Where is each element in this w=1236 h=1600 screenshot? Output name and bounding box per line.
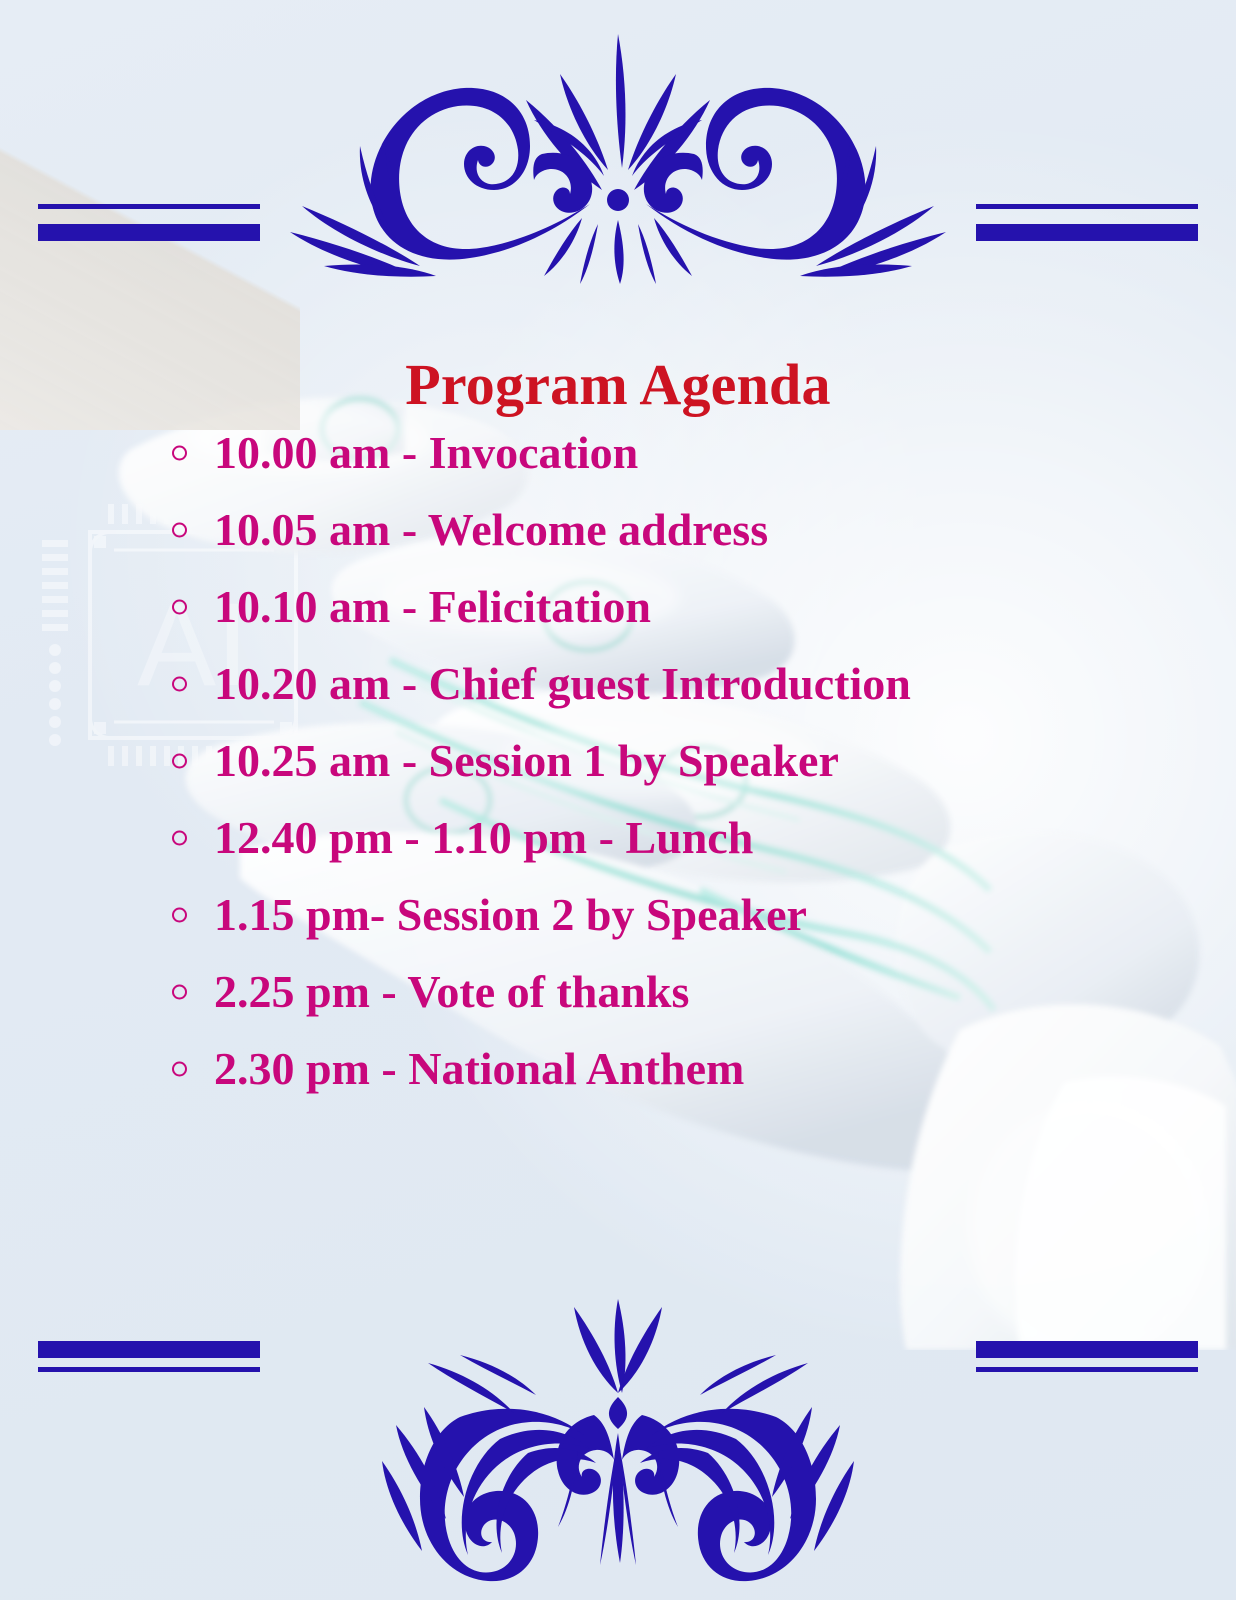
hollow-circle-bullet-icon xyxy=(172,522,187,537)
top-ornament-band xyxy=(0,22,1236,292)
agenda-list: 10.00 am - Invocation 10.05 am - Welcome… xyxy=(0,414,1236,1107)
bottom-ornament-band xyxy=(0,1285,1236,1585)
list-item: 2.25 pm - Vote of thanks xyxy=(0,953,1236,1030)
hollow-circle-bullet-icon xyxy=(172,753,187,768)
divider-rule-left xyxy=(38,1341,260,1385)
list-item: 10.00 am - Invocation xyxy=(0,414,1236,491)
list-item: 10.10 am - Felicitation xyxy=(0,568,1236,645)
hollow-circle-bullet-icon xyxy=(172,1061,187,1076)
agenda-item-label: 12.40 pm - 1.10 pm - Lunch xyxy=(214,815,753,861)
agenda-item-label: 10.10 am - Felicitation xyxy=(214,584,651,630)
page-title: Program Agenda xyxy=(0,355,1236,416)
hollow-circle-bullet-icon xyxy=(172,984,187,999)
agenda-item-label: 1.15 pm- Session 2 by Speaker xyxy=(214,892,807,938)
agenda-item-label: 2.30 pm - National Anthem xyxy=(214,1046,744,1092)
list-item: 10.20 am - Chief guest Introduction xyxy=(0,645,1236,722)
hollow-circle-bullet-icon xyxy=(172,599,187,614)
agenda-item-label: 2.25 pm - Vote of thanks xyxy=(214,969,689,1015)
rule-thick-bar xyxy=(38,224,260,241)
list-item: 2.30 pm - National Anthem xyxy=(0,1030,1236,1107)
divider-rule-right xyxy=(976,204,1198,248)
floral-flourish-ornament-bottom xyxy=(278,1293,958,1583)
list-item: 10.25 am - Session 1 by Speaker xyxy=(0,722,1236,799)
agenda-item-label: 10.00 am - Invocation xyxy=(214,430,638,476)
agenda-item-label: 10.20 am - Chief guest Introduction xyxy=(214,661,911,707)
rule-thin-line xyxy=(38,1367,260,1372)
hollow-circle-bullet-icon xyxy=(172,907,187,922)
hollow-circle-bullet-icon xyxy=(172,830,187,845)
agenda-item-label: 10.25 am - Session 1 by Speaker xyxy=(214,738,839,784)
list-item: 12.40 pm - 1.10 pm - Lunch xyxy=(0,799,1236,876)
rule-thin-line xyxy=(38,204,260,209)
rule-thick-bar xyxy=(976,1341,1198,1358)
hollow-circle-bullet-icon xyxy=(172,445,187,460)
rule-thick-bar xyxy=(38,1341,260,1358)
divider-rule-left xyxy=(38,204,260,248)
list-item: 1.15 pm- Session 2 by Speaker xyxy=(0,876,1236,953)
list-item: 10.05 am - Welcome address xyxy=(0,491,1236,568)
divider-rule-right xyxy=(976,1341,1198,1385)
floral-flourish-ornament-top xyxy=(268,28,968,288)
hollow-circle-bullet-icon xyxy=(172,676,187,691)
poster-canvas: AI xyxy=(0,0,1236,1600)
rule-thin-line xyxy=(976,1367,1198,1372)
agenda-item-label: 10.05 am - Welcome address xyxy=(214,507,768,553)
rule-thick-bar xyxy=(976,224,1198,241)
rule-thin-line xyxy=(976,204,1198,209)
